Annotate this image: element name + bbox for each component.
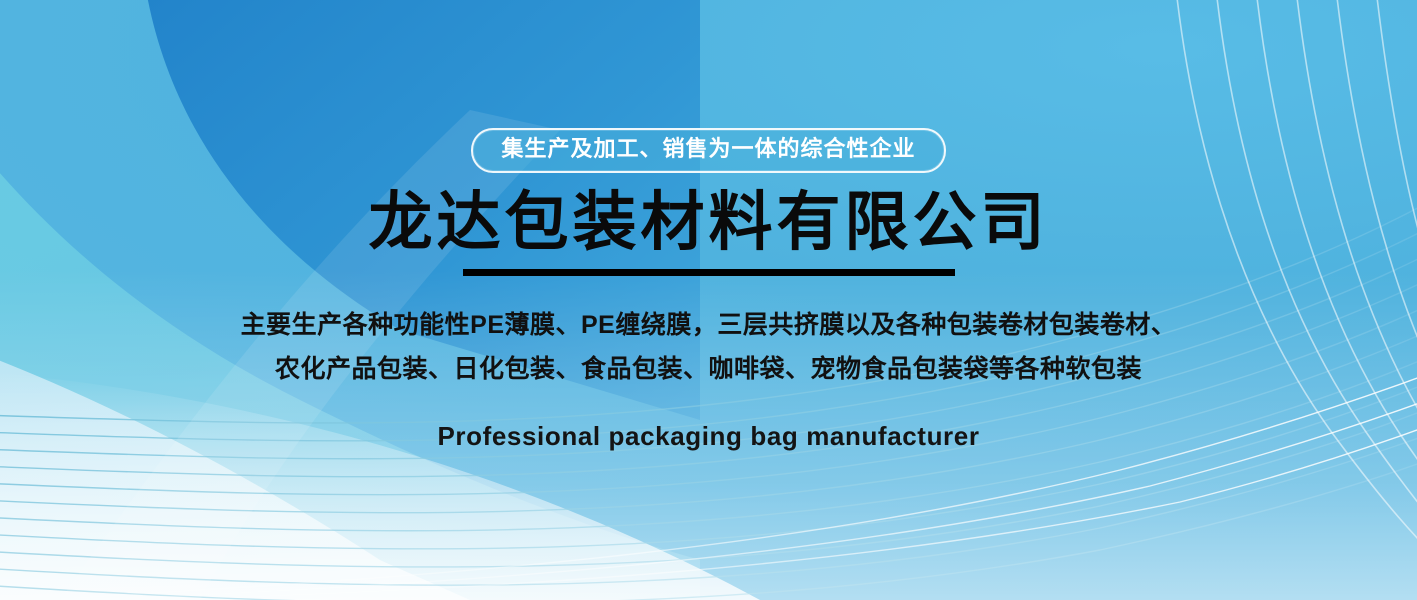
company-hero-banner: 集生产及加工、销售为一体的综合性企业 龙达包装材料有限公司 主要生产各种功能性P…	[0, 0, 1417, 600]
company-name-title: 龙达包装材料有限公司	[369, 187, 1049, 257]
description-line-1: 主要生产各种功能性PE薄膜、PE缠绕膜，三层共挤膜以及各种包装卷材包装卷材、	[0, 304, 1417, 348]
description-line-2: 农化产品包装、日化包装、食品包装、咖啡袋、宠物食品包装袋等各种软包装	[0, 348, 1417, 392]
title-block: 龙达包装材料有限公司	[0, 187, 1417, 276]
tagline-badge: 集生产及加工、销售为一体的综合性企业	[471, 128, 945, 173]
title-underline-rule	[463, 269, 955, 276]
description-block: 主要生产各种功能性PE薄膜、PE缠绕膜，三层共挤膜以及各种包装卷材包装卷材、 农…	[0, 304, 1417, 392]
banner-content: 集生产及加工、销售为一体的综合性企业 龙达包装材料有限公司 主要生产各种功能性P…	[0, 0, 1417, 452]
english-tagline: Professional packaging bag manufacturer	[0, 421, 1417, 452]
